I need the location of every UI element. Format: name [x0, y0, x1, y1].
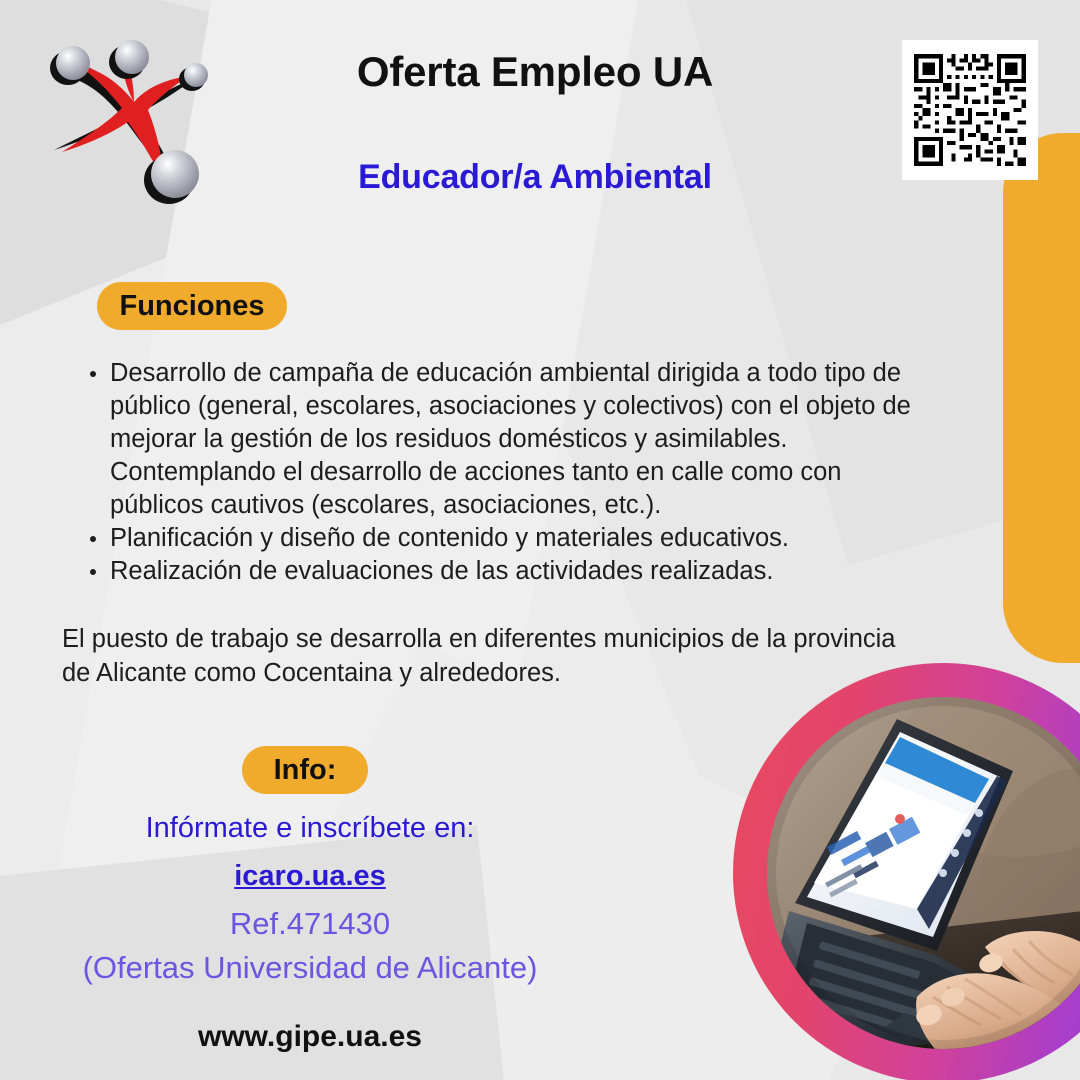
funciones-badge: Funciones	[97, 282, 287, 330]
info-badge: Info:	[242, 746, 368, 794]
laptop-typing-photo	[767, 697, 1080, 1049]
offer-reference: Ref.471430	[20, 906, 600, 942]
list-item: Realización de evaluaciones de las activ…	[110, 555, 940, 588]
location-paragraph: El puesto de trabajo se desarrolla en di…	[62, 622, 912, 690]
list-item: Desarrollo de campaña de educación ambie…	[110, 357, 940, 522]
funciones-list: Desarrollo de campaña de educación ambie…	[88, 357, 940, 588]
job-position-title: Educador/a Ambiental	[300, 158, 770, 197]
page-title: Oferta Empleo UA	[300, 48, 770, 96]
info-lead-text: Infórmate e inscríbete en:	[20, 812, 600, 845]
offer-organisation: (Ofertas Universidad de Alicante)	[20, 950, 600, 986]
orange-accent-shape	[1003, 133, 1080, 663]
job-offer-poster: Oferta Empleo UA Educador/a Ambiental	[0, 0, 1080, 1080]
list-item: Planificación y diseño de contenido y ma…	[110, 522, 940, 555]
qr-code[interactable]	[902, 40, 1038, 180]
footer-website-url[interactable]: www.gipe.ua.es	[20, 1020, 600, 1054]
application-link[interactable]: icaro.ua.es	[20, 860, 600, 893]
gipe-ua-logo	[24, 22, 234, 212]
